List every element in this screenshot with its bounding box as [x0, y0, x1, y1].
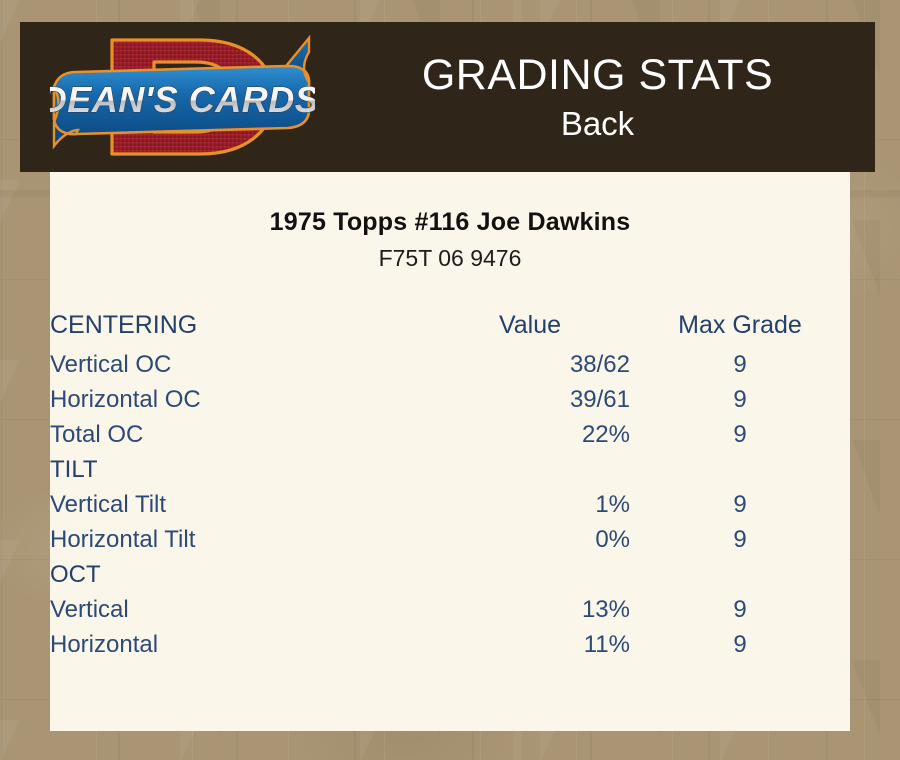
row-max-grade: 9	[630, 522, 850, 557]
row-label: Horizontal	[50, 627, 430, 662]
table-row: Horizontal OC 39/61 9	[50, 382, 850, 417]
table-row: Total OC 22% 9	[50, 417, 850, 452]
table-row: Horizontal 11% 9	[50, 627, 850, 662]
row-value: 13%	[430, 592, 630, 627]
section-header-oct: OCT	[50, 557, 850, 592]
row-label: Total OC	[50, 417, 430, 452]
row-value: 11%	[430, 627, 630, 662]
row-label: Vertical	[50, 592, 430, 627]
row-max-grade: 9	[630, 417, 850, 452]
row-label: Horizontal Tilt	[50, 522, 430, 557]
page-subtitle: Back	[561, 104, 634, 144]
table-row: Vertical 13% 9	[50, 592, 850, 627]
row-value: 39/61	[430, 382, 630, 417]
row-label: Vertical OC	[50, 347, 430, 382]
header-title-block: GRADING STATS Back	[320, 22, 875, 172]
header-bar: DEAN'S CARDS GRADING STATS Back	[20, 22, 875, 172]
page-title: GRADING STATS	[422, 50, 773, 100]
row-value: 1%	[430, 487, 630, 522]
table-row: Vertical Tilt 1% 9	[50, 487, 850, 522]
row-max-grade: 9	[630, 347, 850, 382]
row-label: Vertical Tilt	[50, 487, 430, 522]
section-label: OCT	[50, 557, 850, 592]
row-max-grade: 9	[630, 487, 850, 522]
content-panel: 1975 Topps #116 Joe Dawkins F75T 06 9476…	[50, 172, 850, 731]
column-header-value: Value	[430, 304, 630, 347]
table-row: Horizontal Tilt 0% 9	[50, 522, 850, 557]
row-value: 0%	[430, 522, 630, 557]
row-value: 22%	[430, 417, 630, 452]
row-max-grade: 9	[630, 627, 850, 662]
row-value: 38/62	[430, 347, 630, 382]
column-header-section: CENTERING	[50, 304, 430, 347]
row-max-grade: 9	[630, 382, 850, 417]
card-title: 1975 Topps #116 Joe Dawkins	[50, 172, 850, 237]
table-header-row: CENTERING Value Max Grade	[50, 304, 850, 347]
card-serial-number: F75T 06 9476	[50, 237, 850, 272]
table-row: Vertical OC 38/62 9	[50, 347, 850, 382]
section-header-tilt: TILT	[50, 452, 850, 487]
logo-banner-text: DEAN'S CARDS	[50, 79, 315, 120]
row-label: Horizontal OC	[50, 382, 430, 417]
section-label: TILT	[50, 452, 850, 487]
row-max-grade: 9	[630, 592, 850, 627]
column-header-max-grade: Max Grade	[630, 304, 850, 347]
grading-stats-table: CENTERING Value Max Grade Vertical OC 38…	[50, 304, 850, 662]
deans-cards-logo[interactable]: DEAN'S CARDS	[50, 26, 315, 168]
